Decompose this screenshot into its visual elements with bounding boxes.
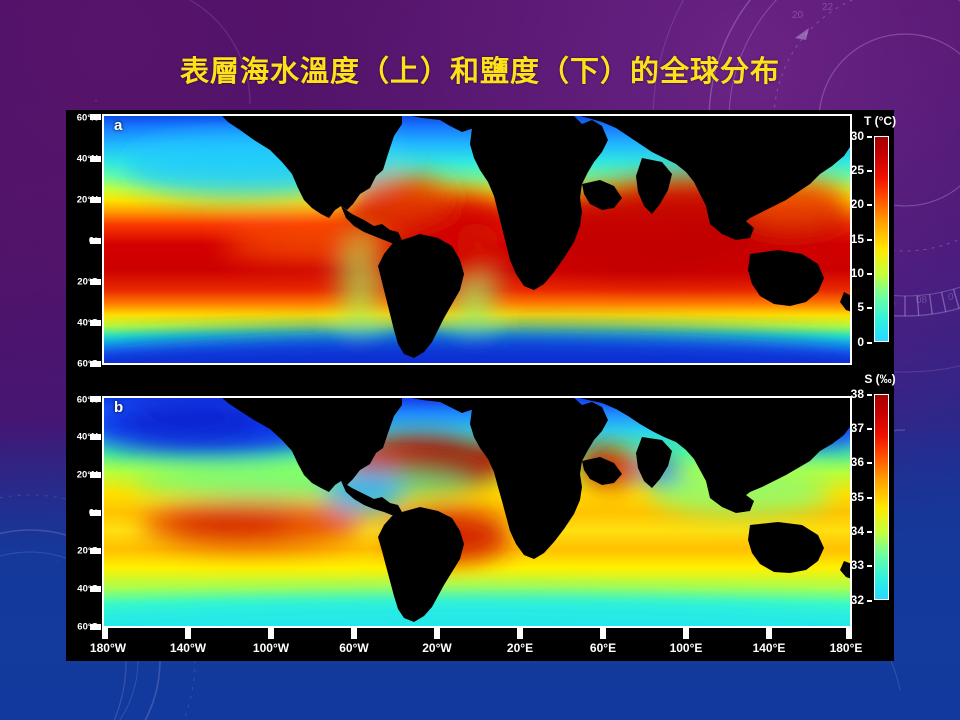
xtick-2 bbox=[268, 628, 274, 639]
cblabel-s-35: 35 bbox=[842, 490, 864, 504]
ylabel-b-5: 40°S bbox=[77, 584, 98, 595]
cblabel-t-15: 15 bbox=[842, 232, 864, 246]
ylabel-b-0: 60°N bbox=[77, 395, 98, 406]
ylabel-a-2: 20°N bbox=[77, 195, 98, 206]
panel-b-salinity: b 60°N 40°N 20°N 0° 20°S 40°S 60°S 180°W… bbox=[66, 372, 894, 661]
cbtick-s-32 bbox=[867, 600, 872, 602]
ylabel-b-6: 60°S bbox=[77, 622, 98, 633]
cblabel-s-34: 34 bbox=[842, 524, 864, 538]
xtick-5 bbox=[517, 628, 523, 639]
colorbar-temperature: T (°C) 30 25 20 15 10 5 0 bbox=[856, 114, 894, 365]
cbtick-s-33 bbox=[867, 565, 872, 567]
xlabel-3: 60°W bbox=[339, 641, 368, 655]
ylabel-a-1: 40°N bbox=[77, 154, 98, 165]
panel-b-letter: b bbox=[114, 399, 123, 416]
xtick-3 bbox=[351, 628, 357, 639]
cblabel-s-37: 37 bbox=[842, 421, 864, 435]
ylabel-a-5: 40°S bbox=[77, 318, 98, 329]
ylabel-a-0: 60°N bbox=[77, 113, 98, 124]
dial-number-08: 08 bbox=[916, 295, 928, 306]
cbtick-s-38 bbox=[867, 394, 872, 396]
xtick-0 bbox=[102, 628, 108, 639]
xlabel-2: 100°W bbox=[253, 641, 289, 655]
cbtick-s-34 bbox=[867, 531, 872, 533]
cblabel-t-30: 30 bbox=[842, 129, 864, 143]
cblabel-t-20: 20 bbox=[842, 197, 864, 211]
cbtick-t-0 bbox=[867, 342, 872, 344]
colorbar-salinity-bar bbox=[874, 394, 889, 600]
cblabel-s-32: 32 bbox=[842, 593, 864, 607]
cblabel-s-36: 36 bbox=[842, 455, 864, 469]
xtick-9 bbox=[846, 628, 852, 639]
cbtick-t-5 bbox=[867, 307, 872, 309]
ylabel-a-3: 0° bbox=[89, 236, 98, 247]
cbtick-t-20 bbox=[867, 204, 872, 206]
ylabel-b-1: 40°N bbox=[77, 432, 98, 443]
xlabel-1: 140°W bbox=[170, 641, 206, 655]
colorbar-temperature-bar bbox=[874, 136, 889, 342]
xtick-4 bbox=[434, 628, 440, 639]
cblabel-s-38: 38 bbox=[842, 387, 864, 401]
xtick-7 bbox=[683, 628, 689, 639]
cbtick-t-15 bbox=[867, 239, 872, 241]
ylabel-b-2: 20°N bbox=[77, 470, 98, 481]
colorbar-salinity-title: S (‰) bbox=[864, 372, 895, 386]
figure-xaxis: 180°W 140°W 100°W 60°W 20°W 20°E 60°E 10… bbox=[102, 628, 852, 661]
xlabel-7: 100°E bbox=[670, 641, 703, 655]
sst-heatmap bbox=[102, 114, 852, 365]
cbtick-t-30 bbox=[867, 136, 872, 138]
panel-a-letter: a bbox=[114, 117, 122, 134]
dial-number-20: 20 bbox=[792, 10, 804, 21]
xlabel-6: 60°E bbox=[590, 641, 616, 655]
cblabel-t-0: 0 bbox=[842, 335, 864, 349]
cbtick-t-25 bbox=[867, 170, 872, 172]
xlabel-9: 180°E bbox=[830, 641, 863, 655]
cblabel-s-33: 33 bbox=[842, 558, 864, 572]
xtick-8 bbox=[766, 628, 772, 639]
cbtick-s-35 bbox=[867, 497, 872, 499]
dial-number-10: 0 bbox=[948, 292, 954, 303]
sss-heatmap bbox=[102, 396, 852, 628]
figure-container: a 60°N 40°N 20°N 0° 20°S 40°S 60°S T (°C… bbox=[66, 110, 894, 661]
slide-title: 表層海水溫度（上）和鹽度（下）的全球分布 bbox=[0, 48, 960, 90]
panel-a-map[interactable] bbox=[102, 114, 852, 365]
colorbar-salinity: S (‰) 38 37 36 35 34 33 32 bbox=[856, 372, 894, 628]
cbtick-t-10 bbox=[867, 273, 872, 275]
cblabel-t-10: 10 bbox=[842, 266, 864, 280]
cbtick-s-36 bbox=[867, 462, 872, 464]
xlabel-4: 20°W bbox=[422, 641, 451, 655]
xlabel-5: 20°E bbox=[507, 641, 533, 655]
panel-a-temperature: a 60°N 40°N 20°N 0° 20°S 40°S 60°S T (°C… bbox=[66, 110, 894, 372]
ylabel-b-4: 20°S bbox=[77, 546, 98, 557]
xlabel-8: 140°E bbox=[753, 641, 786, 655]
cblabel-t-25: 25 bbox=[842, 163, 864, 177]
colorbar-temperature-title: T (°C) bbox=[864, 114, 896, 128]
xtick-1 bbox=[185, 628, 191, 639]
dial-number-22: 22 bbox=[822, 2, 834, 13]
xtick-6 bbox=[600, 628, 606, 639]
panel-b-map[interactable] bbox=[102, 396, 852, 628]
cblabel-t-5: 5 bbox=[842, 300, 864, 314]
cbtick-s-37 bbox=[867, 428, 872, 430]
ylabel-b-3: 0° bbox=[89, 508, 98, 519]
ylabel-a-4: 20°S bbox=[77, 277, 98, 288]
ylabel-a-6: 60°S bbox=[77, 359, 98, 370]
xlabel-0: 180°W bbox=[90, 641, 126, 655]
